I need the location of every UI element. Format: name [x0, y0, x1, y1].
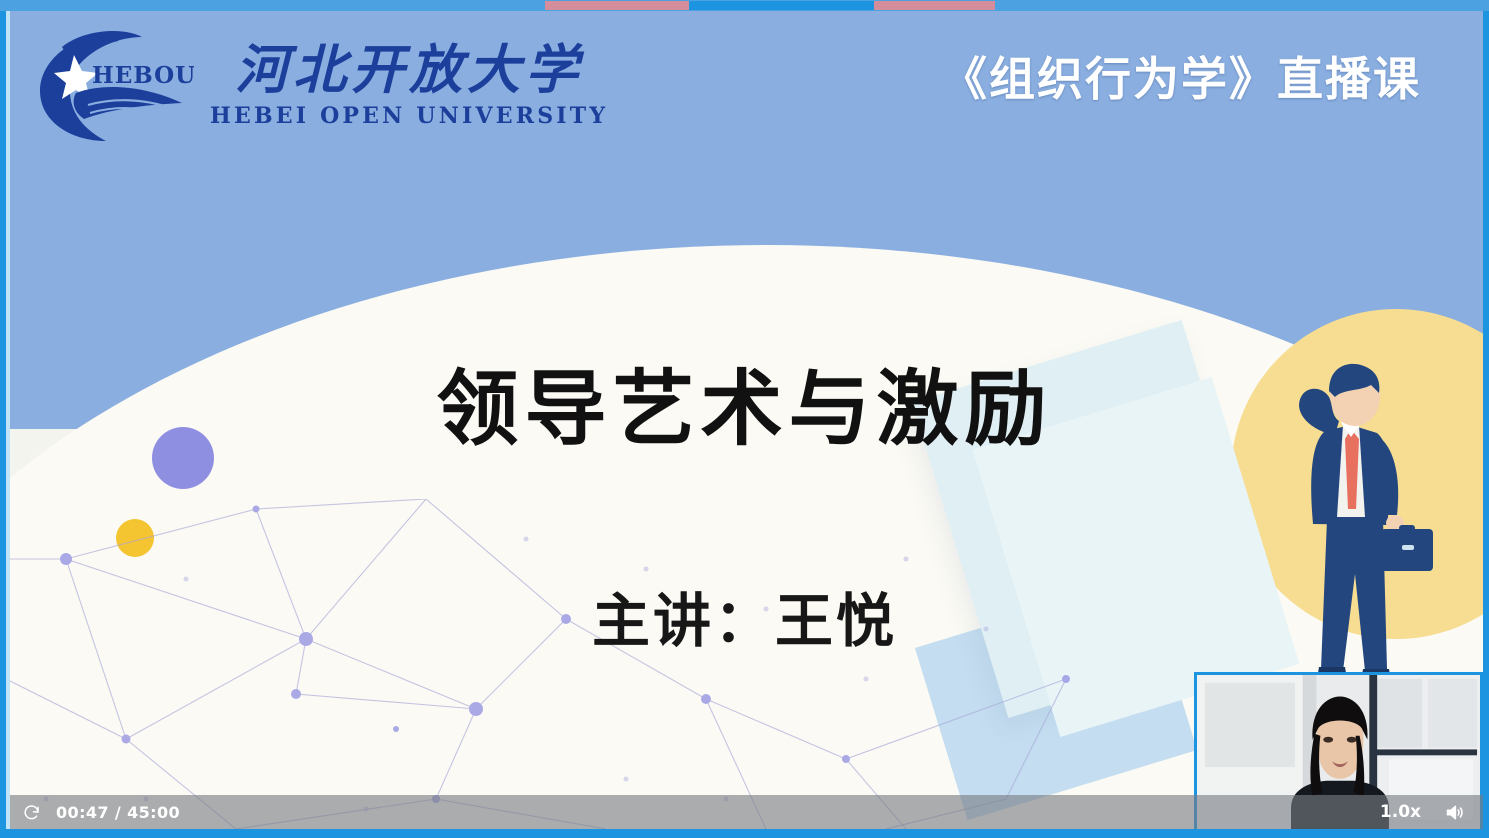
university-logo: HEBOU 河北开放大学 HEBEI OPEN UNIVERSITY: [32, 27, 608, 145]
constellation-network-pattern: [6, 499, 1106, 829]
player-control-bar[interactable]: 00:47 / 45:00 1.0x: [6, 795, 1483, 829]
volume-icon[interactable]: [1443, 801, 1465, 823]
seek-segment-1[interactable]: [689, 1, 874, 10]
hebou-crescent-star-logo-icon: HEBOU: [32, 27, 194, 145]
player-right-edge: [1483, 9, 1489, 829]
video-player[interactable]: 领导艺术与激励 主讲：王悦 HEBOU 河北开放大学: [0, 0, 1489, 838]
seek-segment-0[interactable]: [545, 1, 689, 10]
screenshot-viewport: 领导艺术与激励 主讲：王悦 HEBOU 河北开放大学: [0, 0, 1489, 838]
player-bottom-edge: [0, 829, 1489, 838]
playback-speed-button[interactable]: 1.0x: [1380, 802, 1421, 822]
university-name-en: HEBEI OPEN UNIVERSITY: [210, 103, 608, 129]
svg-text:HEBOU: HEBOU: [92, 62, 194, 89]
seek-segment-2[interactable]: [874, 1, 995, 10]
slide-presenter: 主讲：王悦: [6, 574, 1483, 658]
university-name-cn: 河北开放大学: [235, 43, 583, 99]
course-title: 《组织行为学》直播课: [941, 43, 1421, 109]
refresh-icon[interactable]: [20, 801, 42, 823]
seek-progress-bar[interactable]: [0, 0, 1489, 11]
slide-header: HEBOU 河北开放大学 HEBEI OPEN UNIVERSITY 《组织行为…: [6, 9, 1483, 159]
slide-title: 领导艺术与激励: [6, 342, 1483, 461]
player-left-hairline: [6, 9, 10, 829]
time-display: 00:47 / 45:00: [56, 803, 180, 822]
